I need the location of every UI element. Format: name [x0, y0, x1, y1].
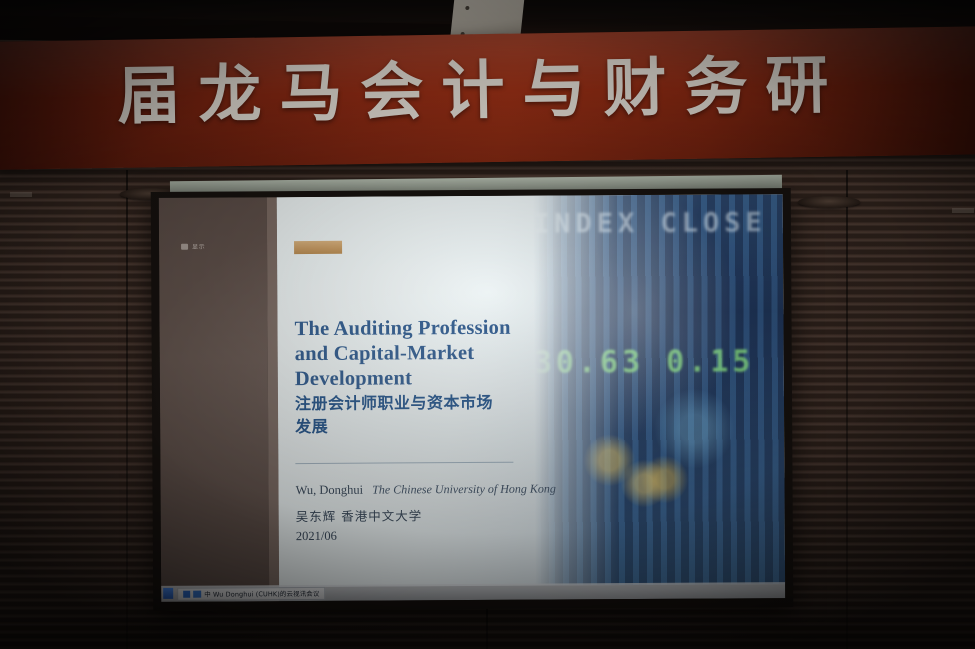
projected-desktop: 显示 INDEX CLOSE 30.63 0.15 The Auditing P… [159, 194, 785, 602]
wall-seam [126, 170, 128, 649]
slide-subtitle: 注册会计师职业与资本市场 发展 [295, 390, 595, 438]
author-name-chinese: 吴东辉 香港中文大学 [296, 504, 596, 525]
banner-text: 届龙马会计与财务研 [0, 32, 975, 139]
app-icon [193, 590, 201, 597]
slide-author-line: Wu, Donghui The Chinese University of Ho… [296, 481, 626, 498]
slide-date: 2021/06 [296, 529, 337, 544]
taskbar-item[interactable]: 中 Wu Donghui (CUHK)的云视讯会议 [177, 586, 325, 600]
start-button[interactable] [163, 588, 173, 599]
author-affiliation: The Chinese University of Hong Kong [372, 481, 556, 496]
toolbar-icon [181, 243, 188, 249]
wall-seam [846, 170, 848, 649]
slide-title-line-1: The Auditing Profession [294, 315, 594, 342]
presenter-toolbar[interactable]: 显示 [181, 241, 227, 250]
slide-title-line-3: Development [295, 365, 595, 392]
slide-title: The Auditing Profession and Capital-Mark… [294, 315, 594, 392]
author-name: Wu, Donghui [296, 483, 364, 497]
powerpoint-slide: INDEX CLOSE 30.63 0.15 The Auditing Prof… [277, 194, 785, 587]
lecture-hall-photo: 届龙马会计与财务研 显示 INDEX CLOSE 30.63 0.15 [0, 0, 975, 649]
slide-subtitle-line-1: 注册会计师职业与资本市场 [295, 390, 595, 415]
taskbar-item-label: 中 Wu Donghui (CUHK)的云视讯会议 [204, 588, 319, 599]
venue-banner: 届龙马会计与财务研 [0, 26, 975, 170]
windows-taskbar[interactable]: 中 Wu Donghui (CUHK)的云视讯会议 [161, 582, 785, 602]
presenter-toolbar-label: 显示 [192, 242, 205, 251]
ime-icon [183, 590, 190, 597]
ceiling-speaker-icon [798, 196, 860, 208]
desktop-left-strip: 显示 [159, 197, 269, 602]
slide-subtitle-line-2: 发展 [295, 413, 595, 438]
wall-plate [10, 192, 32, 197]
projection-screen: 显示 INDEX CLOSE 30.63 0.15 The Auditing P… [151, 188, 794, 611]
wall-plate [952, 208, 974, 213]
slide-title-line-2: and Capital-Market [295, 340, 595, 367]
slide-accent-bar [294, 241, 342, 254]
